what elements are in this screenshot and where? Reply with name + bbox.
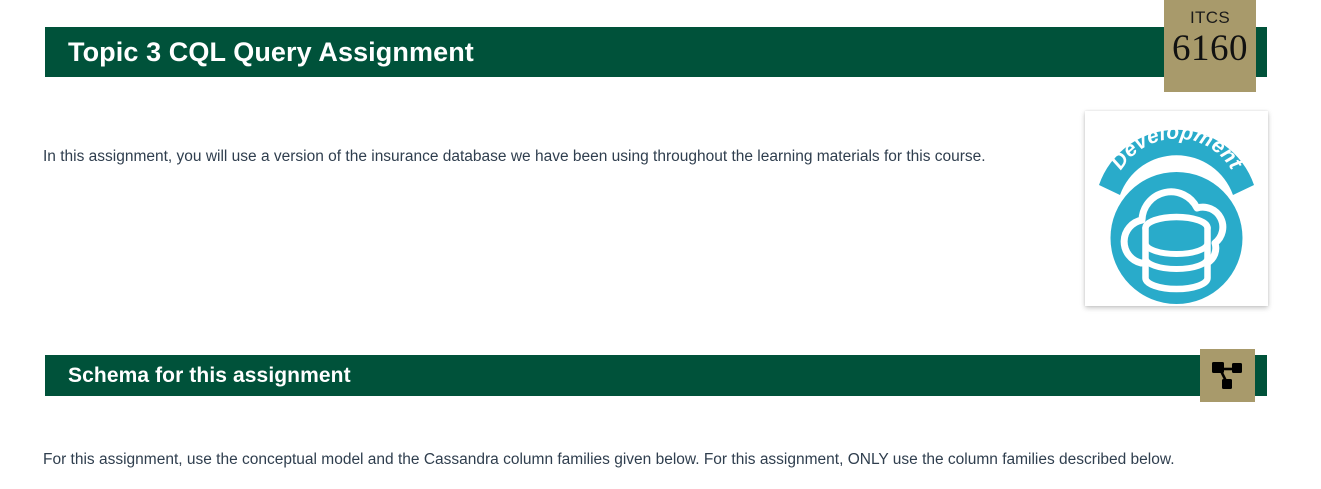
course-code-badge: ITCS 6160 (1164, 0, 1256, 92)
development-logo-card: Development (1085, 111, 1268, 306)
section-header-assignment-schema: Schema for this assignment (45, 355, 1267, 396)
section-header-assignment-intro: Topic 3 CQL Query Assignment (45, 27, 1267, 77)
page-title: Topic 3 CQL Query Assignment (68, 39, 474, 66)
cloud-database-icon: Development (1085, 111, 1268, 306)
sitemap-icon (1211, 361, 1244, 391)
schema-icon-badge (1200, 349, 1255, 402)
schema-paragraph: For this assignment, use the conceptual … (43, 446, 1203, 475)
course-code-number: 6160 (1172, 30, 1248, 69)
intro-paragraph: In this assignment, you will use a versi… (43, 143, 1073, 172)
course-code-prefix: ITCS (1190, 9, 1230, 26)
section-title-schema: Schema for this assignment (68, 365, 351, 386)
